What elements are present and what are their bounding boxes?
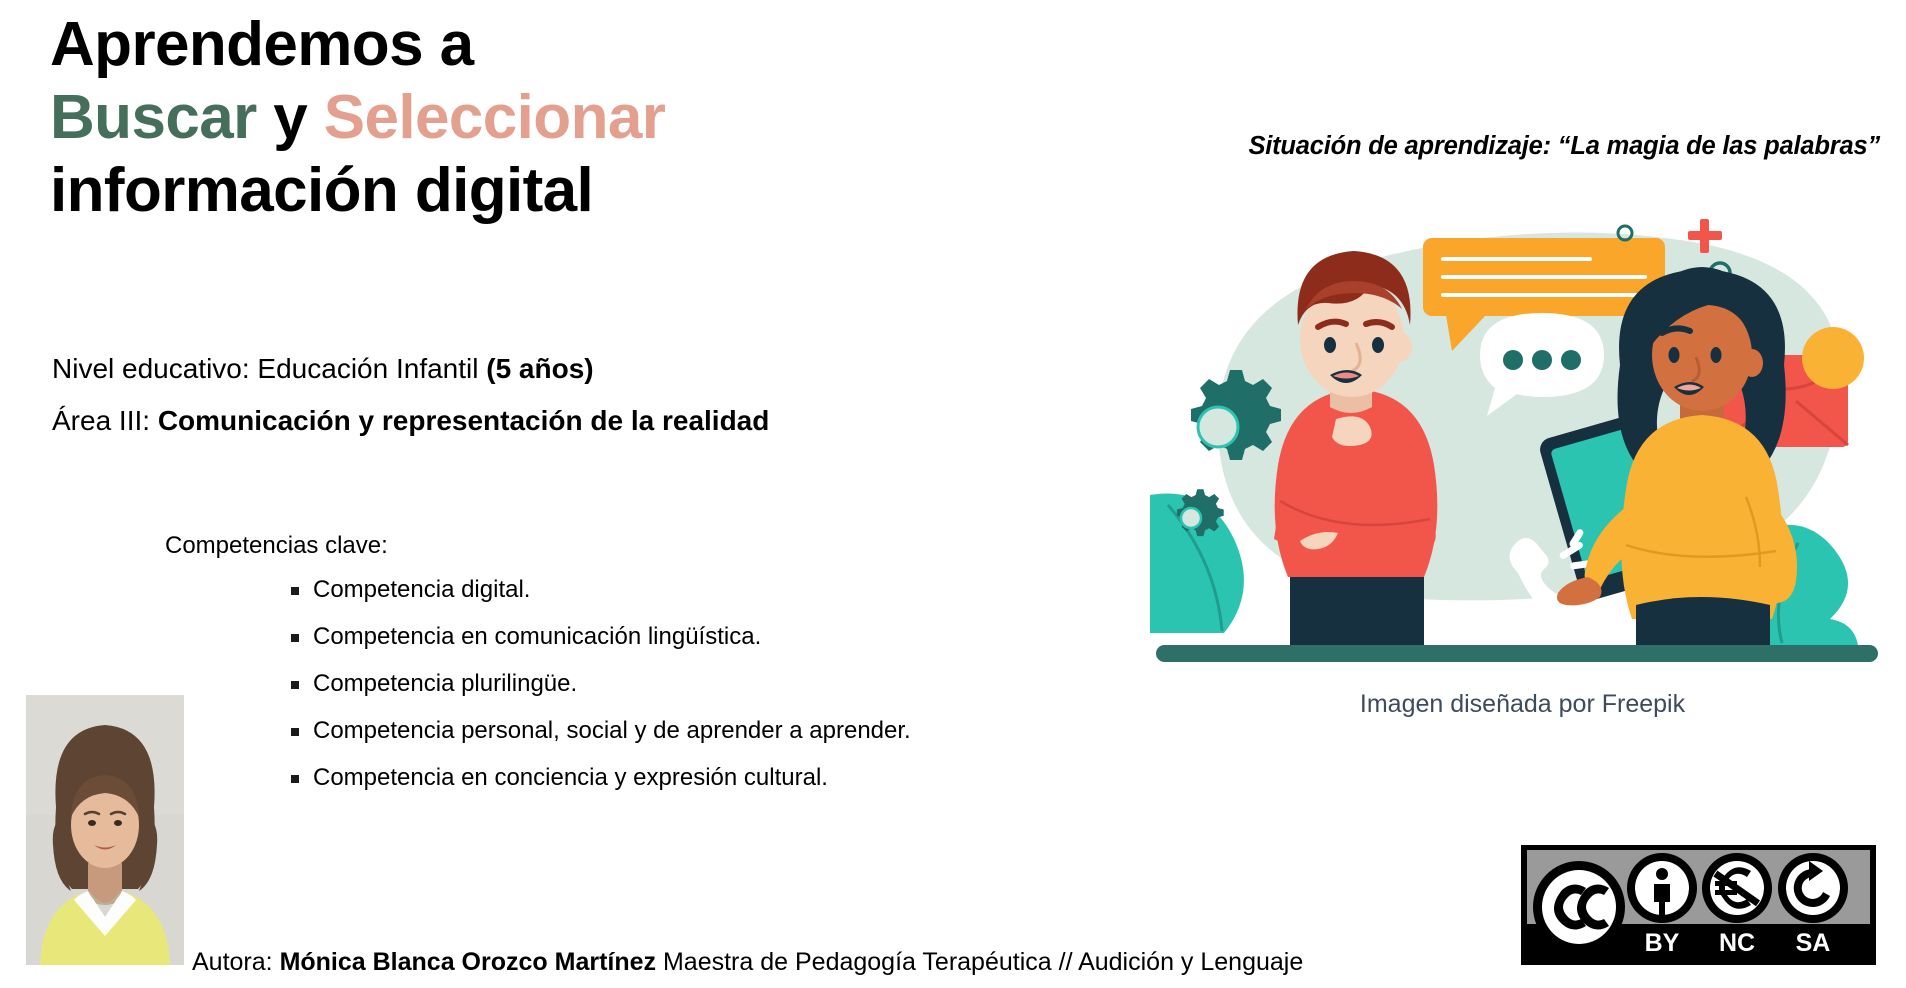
list-item: Competencia personal, social y de aprend…	[313, 719, 1165, 743]
list-item: Competencia digital.	[313, 578, 1165, 602]
author-portrait-photo	[26, 695, 184, 965]
nc-icon	[1702, 853, 1772, 923]
image-credit-text: Imagen diseñada por Freepik	[1150, 690, 1895, 719]
license-label-by: BY	[1645, 929, 1680, 957]
square-bullet-icon	[291, 634, 299, 642]
list-item: Competencia plurilingüe.	[313, 672, 1165, 696]
list-item-label: Competencia personal, social y de aprend…	[313, 717, 911, 744]
title-line-1: Aprendemos a	[50, 8, 930, 81]
meta-block: Nivel educativo: Educación Infantil (5 a…	[52, 355, 1012, 459]
square-bullet-icon	[291, 775, 299, 783]
competencies-block: Competencias clave: Competencia digital.…	[165, 532, 1165, 813]
area-value: Comunicación y representación de la real…	[158, 405, 770, 436]
competencies-list: Competencia digital. Competencia en comu…	[165, 578, 1165, 790]
author-credit-line: Autora: Mónica Blanca Orozco Martínez Ma…	[192, 948, 1303, 977]
by-icon	[1627, 853, 1697, 923]
list-item: Competencia en conciencia y expresión cu…	[313, 766, 1165, 790]
title-block: Aprendemos a Buscar y Seleccionar inform…	[50, 8, 930, 227]
competencies-heading: Competencias clave:	[165, 532, 1165, 560]
license-label-nc: NC	[1719, 929, 1755, 957]
area-label: Área III:	[52, 405, 158, 436]
cc-icon	[1533, 861, 1625, 953]
list-item: Competencia en comunicación lingüística.	[313, 625, 1165, 649]
education-level-label: Nivel educativo: Educación Infantil	[52, 353, 486, 384]
square-bullet-icon	[291, 587, 299, 595]
title-word-seleccionar: Seleccionar	[324, 83, 665, 152]
title-conjunction: y	[257, 83, 324, 152]
title-word-buscar: Buscar	[50, 83, 257, 152]
license-label-sa: SA	[1796, 929, 1831, 957]
author-name: Mónica Blanca Orozco Martínez	[280, 948, 656, 976]
list-item-label: Competencia plurilingüe.	[313, 670, 577, 697]
education-level-line: Nivel educativo: Educación Infantil (5 a…	[52, 355, 1012, 383]
area-line: Área III: Comunicación y representación …	[52, 407, 1012, 435]
list-item-label: Competencia en comunicación lingüística.	[313, 623, 761, 650]
illustration-people-searching-information	[1150, 205, 1895, 670]
author-prefix: Autora:	[192, 948, 280, 976]
author-role: Maestra de Pedagogía Terapéutica // Audi…	[656, 948, 1303, 976]
situation-heading: Situación de aprendizaje: “La magia de l…	[920, 132, 1880, 161]
title-line-2: Buscar y Seleccionar	[50, 81, 930, 154]
list-item-label: Competencia digital.	[313, 576, 530, 603]
square-bullet-icon	[291, 681, 299, 689]
education-level-value: (5 años)	[486, 353, 593, 384]
title-line-3: información digital	[50, 154, 930, 227]
list-item-label: Competencia en conciencia y expresión cu…	[313, 764, 828, 791]
square-bullet-icon	[291, 728, 299, 736]
creative-commons-license-badge[interactable]: BY NC SA	[1521, 845, 1876, 965]
sa-icon	[1778, 853, 1848, 923]
